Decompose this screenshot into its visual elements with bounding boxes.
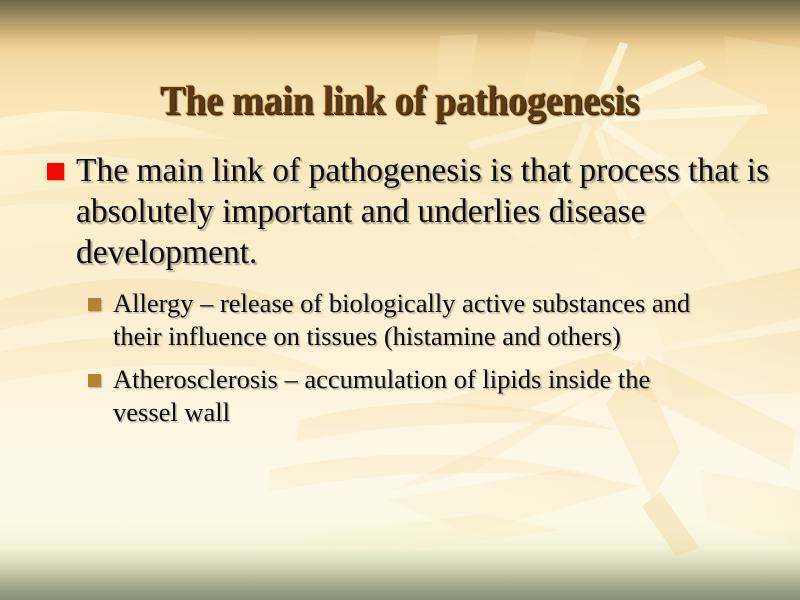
brown-square-bullet-icon — [88, 374, 101, 387]
red-square-bullet-icon — [47, 163, 64, 180]
page-title: The main link of pathogenesis — [160, 77, 639, 123]
bullet-level2-group: Allergy – release of biologically active… — [0, 287, 800, 429]
slide-title-block: The main link of pathogenesis — [0, 50, 800, 151]
bullet-level2-item: Atherosclerosis – accumulation of lipids… — [0, 363, 800, 429]
slide-canvas: The main link of pathogenesis The main l… — [0, 0, 800, 600]
bullet-level1-item: The main link of pathogenesis is that pr… — [0, 150, 800, 273]
brown-square-bullet-icon — [88, 298, 101, 311]
bullet-level2-text: Atherosclerosis – accumulation of lipids… — [113, 363, 710, 429]
bullet-level1-text: The main link of pathogenesis is that pr… — [76, 150, 770, 273]
slide-content-body: The main link of pathogenesis is that pr… — [0, 150, 800, 439]
bullet-level2-text: Allergy – release of biologically active… — [113, 287, 710, 353]
bullet-level2-item: Allergy – release of biologically active… — [0, 287, 800, 353]
